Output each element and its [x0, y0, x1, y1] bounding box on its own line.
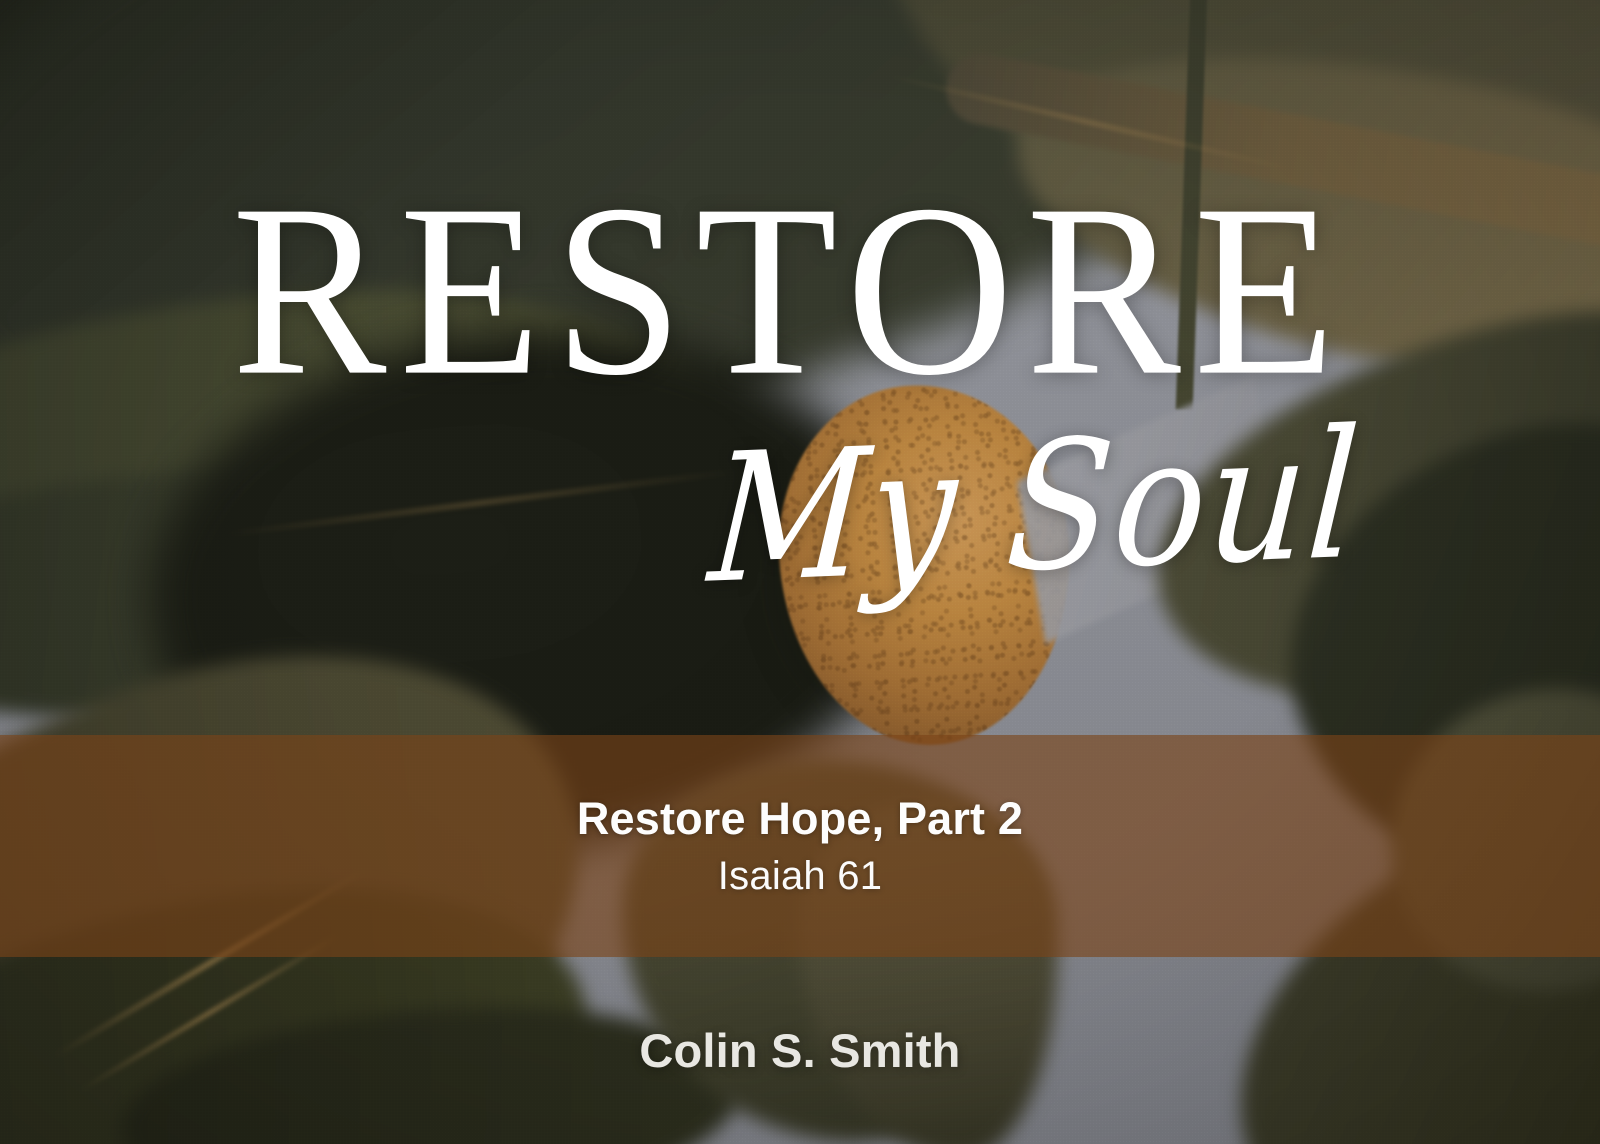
speaker-area: Colin S. Smith [0, 957, 1600, 1144]
message-info-band: Restore Hope, Part 2 Isaiah 61 [0, 735, 1600, 957]
speaker-name: Colin S. Smith [639, 1023, 960, 1078]
message-title: Restore Hope, Part 2 [577, 794, 1023, 844]
sermon-title-slide: RESTORE My Soul Restore Hope, Part 2 Isa… [0, 0, 1600, 1144]
scripture-reference: Isaiah 61 [718, 854, 883, 898]
